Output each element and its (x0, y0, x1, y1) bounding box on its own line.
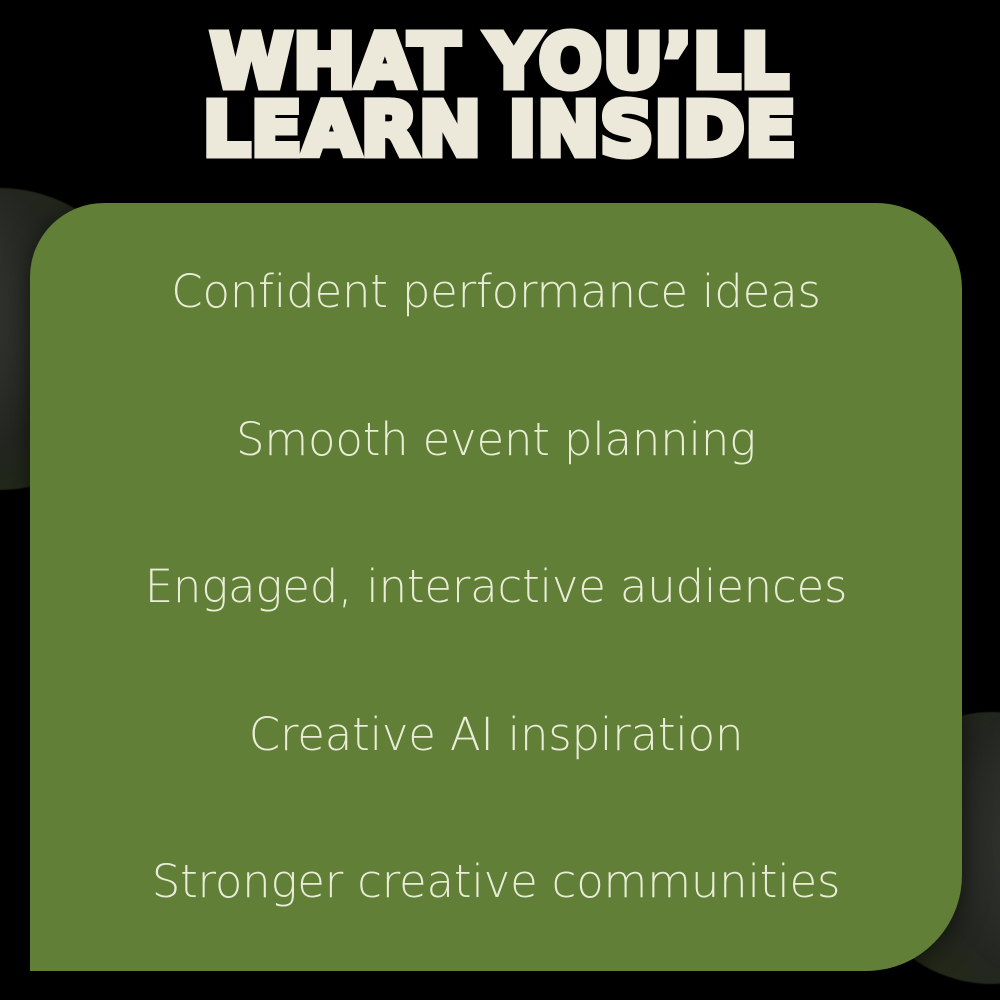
page-title-line-2: LEARN INSIDE (0, 96, 1000, 164)
benefits-list: Confident performance ideas Smooth event… (30, 203, 962, 971)
page-title-line-1: WHAT YOU’LL (0, 28, 1000, 96)
list-item: Smooth event planning (30, 415, 962, 465)
list-item: Confident performance ideas (30, 267, 962, 317)
slide-canvas: WHAT YOU’LL LEARN INSIDE Confident perfo… (0, 0, 1000, 1000)
list-item: Creative AI inspiration (30, 710, 962, 760)
list-item: Stronger creative communities (30, 857, 962, 907)
page-title: WHAT YOU’LL LEARN INSIDE (0, 28, 1000, 164)
list-item: Engaged, interactive audiences (30, 562, 962, 612)
